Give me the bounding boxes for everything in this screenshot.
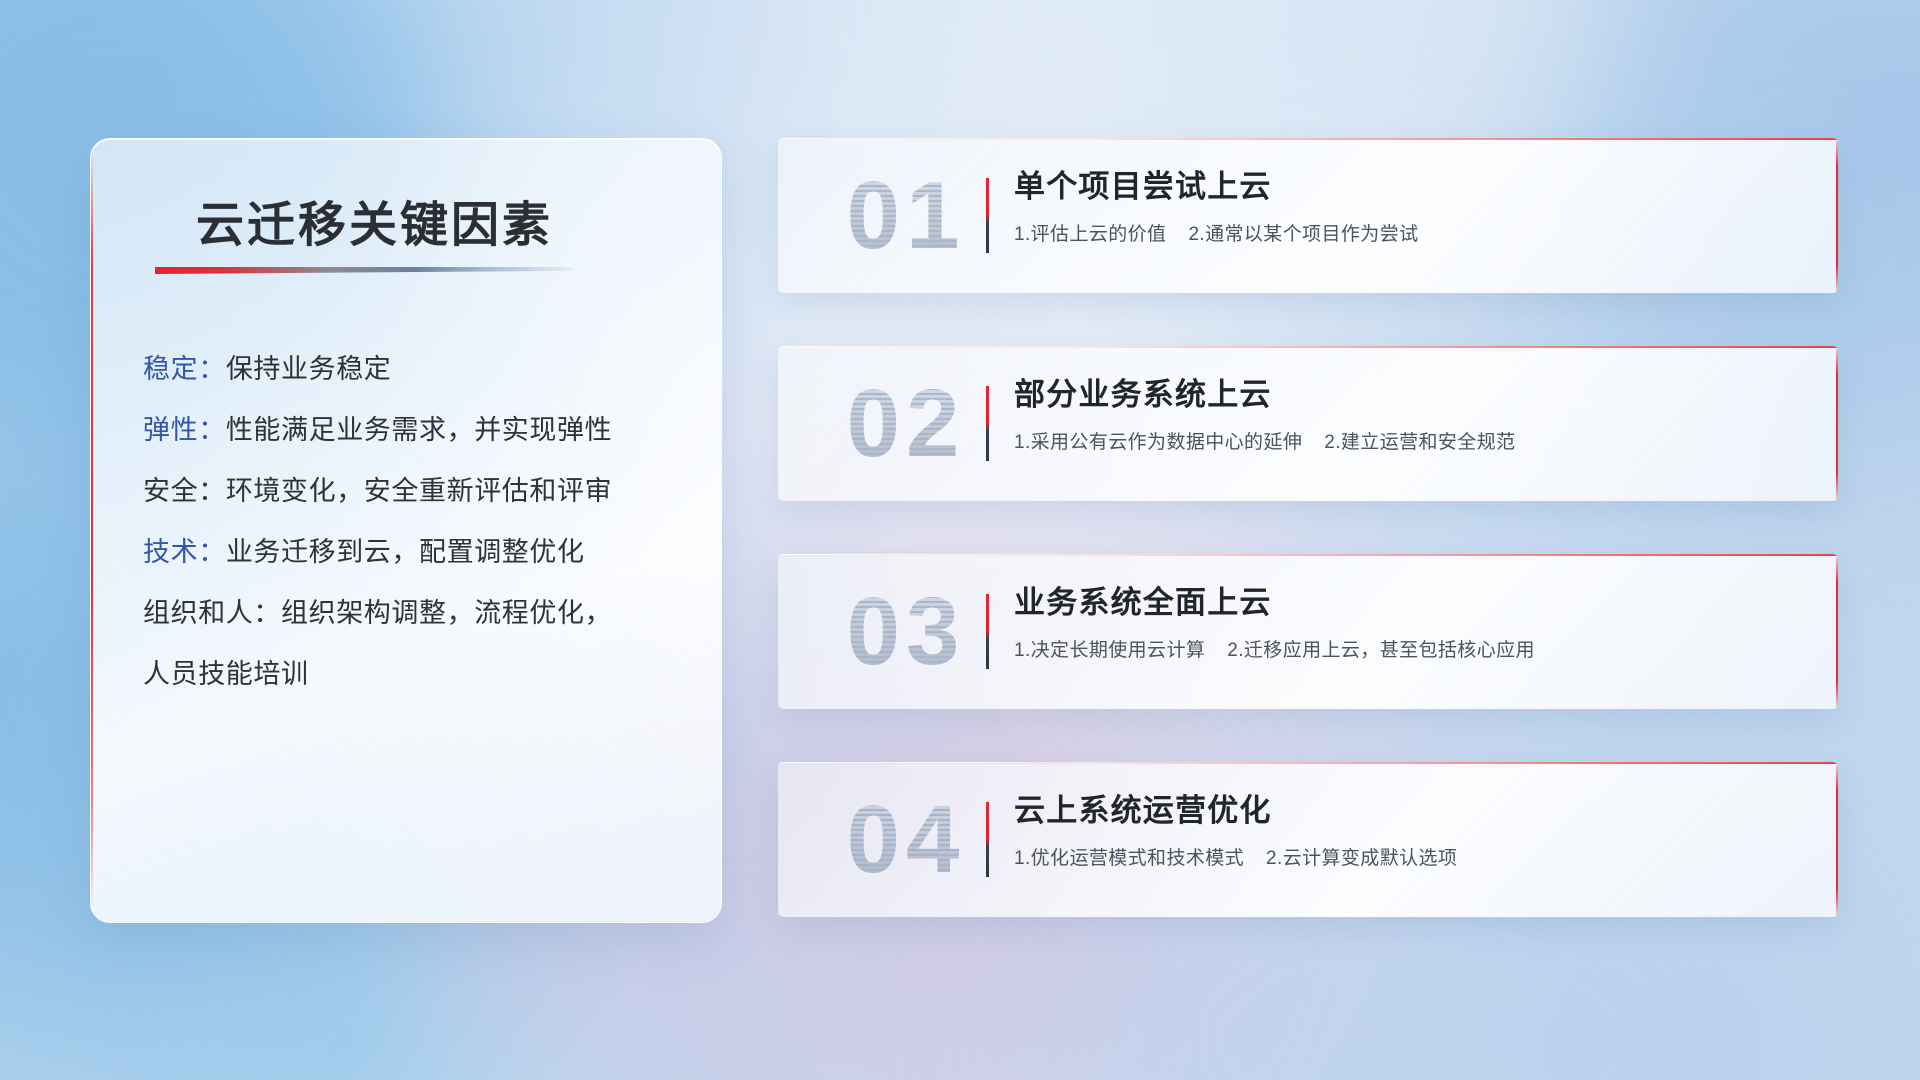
step-text-block: 部分业务系统上云1.采用公有云作为数据中心的延伸2.建立运营和安全规范 (1014, 372, 1810, 457)
factor-label: 安全： (143, 476, 226, 506)
step-description: 1.采用公有云作为数据中心的延伸2.建立运营和安全规范 (1014, 429, 1810, 457)
factor-label: 稳定： (143, 354, 226, 384)
step-card[interactable]: 0202部分业务系统上云1.采用公有云作为数据中心的延伸2.建立运营和安全规范 (778, 346, 1838, 501)
step-description: 1.决定长期使用云计算2.迁移应用上云，甚至包括核心应用 (1014, 637, 1810, 665)
factor-row: 组织和人：组织架构调整，流程优化， (143, 583, 693, 644)
step-divider-accent (986, 594, 989, 669)
factor-label: 弹性： (143, 415, 226, 445)
step-description-item: 2.迁移应用上云，甚至包括核心应用 (1227, 640, 1535, 661)
factor-text: 组织架构调整，流程优化， (281, 598, 612, 628)
step-card[interactable]: 0101单个项目尝试上云1.评估上云的价值2.通常以某个项目作为尝试 (778, 138, 1838, 293)
factor-row: 人员技能培训 (143, 644, 693, 705)
step-title: 云上系统运营优化 (1014, 788, 1810, 834)
step-card[interactable]: 0303业务系统全面上云1.决定长期使用云计算2.迁移应用上云，甚至包括核心应用 (778, 554, 1838, 709)
factor-label: 技术： (143, 537, 226, 567)
factor-text: 业务迁移到云，配置调整优化 (226, 537, 585, 567)
factor-text: 保持业务稳定 (226, 354, 392, 384)
step-text-block: 业务系统全面上云1.决定长期使用云计算2.迁移应用上云，甚至包括核心应用 (1014, 580, 1810, 665)
step-number: 01 (796, 160, 1016, 272)
step-description-item: 2.建立运营和安全规范 (1324, 432, 1515, 453)
step-description-item: 2.通常以某个项目作为尝试 (1188, 224, 1418, 245)
step-description-item: 1.决定长期使用云计算 (1014, 640, 1205, 661)
step-title: 业务系统全面上云 (1014, 580, 1810, 626)
step-description: 1.评估上云的价值2.通常以某个项目作为尝试 (1014, 221, 1810, 249)
factor-text: 性能满足业务需求，并实现弹性 (226, 415, 612, 445)
step-description-item: 1.优化运营模式和技术模式 (1014, 848, 1244, 869)
step-description-item: 1.评估上云的价值 (1014, 224, 1166, 245)
step-divider-accent (986, 802, 989, 877)
factor-list: 稳定：保持业务稳定弹性：性能满足业务需求，并实现弹性安全：环境变化，安全重新评估… (143, 339, 693, 705)
step-title: 部分业务系统上云 (1014, 372, 1810, 418)
step-number: 04 (796, 784, 1016, 896)
migration-steps-list: 0101单个项目尝试上云1.评估上云的价值2.通常以某个项目作为尝试0202部分… (778, 138, 1838, 970)
step-card[interactable]: 0404云上系统运营优化1.优化运营模式和技术模式2.云计算变成默认选项 (778, 762, 1838, 917)
step-divider-accent (986, 178, 989, 253)
key-factors-panel: 云迁移关键因素 稳定：保持业务稳定弹性：性能满足业务需求，并实现弹性安全：环境变… (90, 138, 722, 923)
step-description: 1.优化运营模式和技术模式2.云计算变成默认选项 (1014, 845, 1810, 873)
factor-row: 弹性：性能满足业务需求，并实现弹性 (143, 400, 693, 461)
factor-text: 环境变化，安全重新评估和评审 (226, 476, 612, 506)
step-title: 单个项目尝试上云 (1014, 164, 1810, 210)
factor-row: 技术：业务迁移到云，配置调整优化 (143, 522, 693, 583)
step-number: 03 (796, 576, 1016, 688)
title-underline-accent (155, 267, 573, 274)
factor-label: 组织和人： (143, 598, 281, 628)
slide-canvas: 云迁移关键因素 稳定：保持业务稳定弹性：性能满足业务需求，并实现弹性安全：环境变… (0, 0, 1920, 1080)
step-divider-accent (986, 386, 989, 461)
step-description-item: 1.采用公有云作为数据中心的延伸 (1014, 432, 1302, 453)
factor-row: 安全：环境变化，安全重新评估和评审 (143, 461, 693, 522)
step-text-block: 单个项目尝试上云1.评估上云的价值2.通常以某个项目作为尝试 (1014, 164, 1810, 249)
panel-title: 云迁移关键因素 (196, 185, 553, 255)
factor-text: 人员技能培训 (143, 659, 309, 689)
step-description-item: 2.云计算变成默认选项 (1266, 848, 1457, 869)
factor-row: 稳定：保持业务稳定 (143, 339, 693, 400)
step-text-block: 云上系统运营优化1.优化运营模式和技术模式2.云计算变成默认选项 (1014, 788, 1810, 873)
step-number: 02 (796, 368, 1016, 480)
